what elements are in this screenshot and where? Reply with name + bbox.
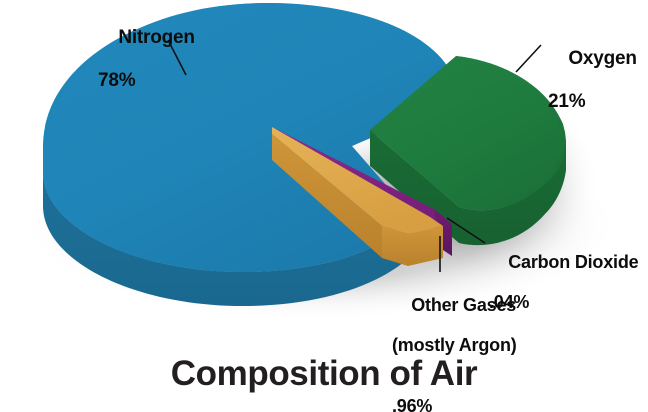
pie-chart-figure: Nitrogen 78% Oxygen 21% Carbon Dioxide .… — [0, 0, 648, 412]
slice-label-other-gases-name: Other Gases — [411, 295, 516, 315]
slice-label-nitrogen: Nitrogen 78% — [98, 6, 195, 134]
leader-line-oxygen — [516, 45, 541, 72]
slice-label-other-gases-percent: .96% — [392, 396, 517, 412]
slice-label-nitrogen-percent: 78% — [98, 70, 195, 91]
slice-label-oxygen-percent: 21% — [548, 91, 637, 112]
slice-label-oxygen-name: Oxygen — [568, 48, 637, 69]
slice-label-other-gases-qualifier: (mostly Argon) — [392, 335, 517, 355]
slice-label-oxygen: Oxygen 21% — [548, 27, 637, 155]
slice-label-nitrogen-name: Nitrogen — [118, 27, 195, 48]
chart-title: Composition of Air — [0, 354, 648, 394]
slice-label-carbon-dioxide-name: Carbon Dioxide — [508, 252, 638, 272]
